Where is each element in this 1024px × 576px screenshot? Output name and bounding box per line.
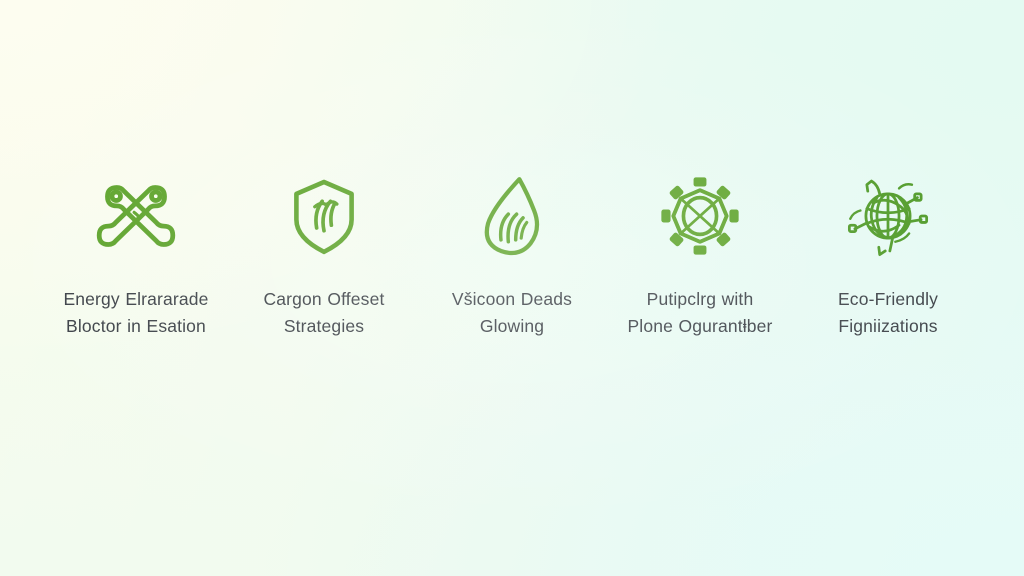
feature-label: Energy Elrararade Bloctor in Esation [43, 286, 229, 340]
feature-label: Putipclrɡ with Plone Ogurantⱡber [607, 286, 793, 340]
feature-label: Všicoon Deads Glowing [419, 286, 605, 340]
feature-label-line-2: Bloctor in Esation [43, 313, 229, 340]
feature-label-line-2: Figniizations [795, 313, 981, 340]
globe-network-icon [840, 168, 936, 264]
eco-feature-poster: Energy Elrararade Bloctor in Esation Car… [0, 0, 1024, 576]
water-drop-leaf-icon [464, 168, 560, 264]
feature-item-eco-friendly[interactable]: Eco-Friendly Figniizations [794, 168, 982, 340]
feature-label-line-1: Cargon Offeset [231, 286, 417, 313]
feature-label: Cargon Offeset Strategies [231, 286, 417, 340]
feature-row: Energy Elrararade Bloctor in Esation Car… [0, 168, 1024, 340]
feature-item-partners[interactable]: Putipclrɡ with Plone Ogurantⱡber [606, 168, 794, 340]
shield-leaf-icon [276, 168, 372, 264]
feature-label: Eco-Friendly Figniizations [795, 286, 981, 340]
feature-label-line-1: Všicoon Deads [419, 286, 605, 313]
feature-label-line-2: Plone Ogurantⱡber [607, 313, 793, 340]
feature-label-line-2: Glowing [419, 313, 605, 340]
crossed-wrenches-icon [88, 168, 184, 264]
feature-label-line-2: Strategies [231, 313, 417, 340]
feature-item-energy[interactable]: Energy Elrararade Bloctor in Esation [42, 168, 230, 340]
feature-label-line-1: Eco-Friendly [795, 286, 981, 313]
feature-item-carbon-offset[interactable]: Cargon Offeset Strategies [230, 168, 418, 340]
feature-label-line-1: Energy Elrararade [43, 286, 229, 313]
feature-item-water[interactable]: Všicoon Deads Glowing [418, 168, 606, 340]
feature-label-line-1: Putipclrɡ with [607, 286, 793, 313]
network-gear-icon [652, 168, 748, 264]
